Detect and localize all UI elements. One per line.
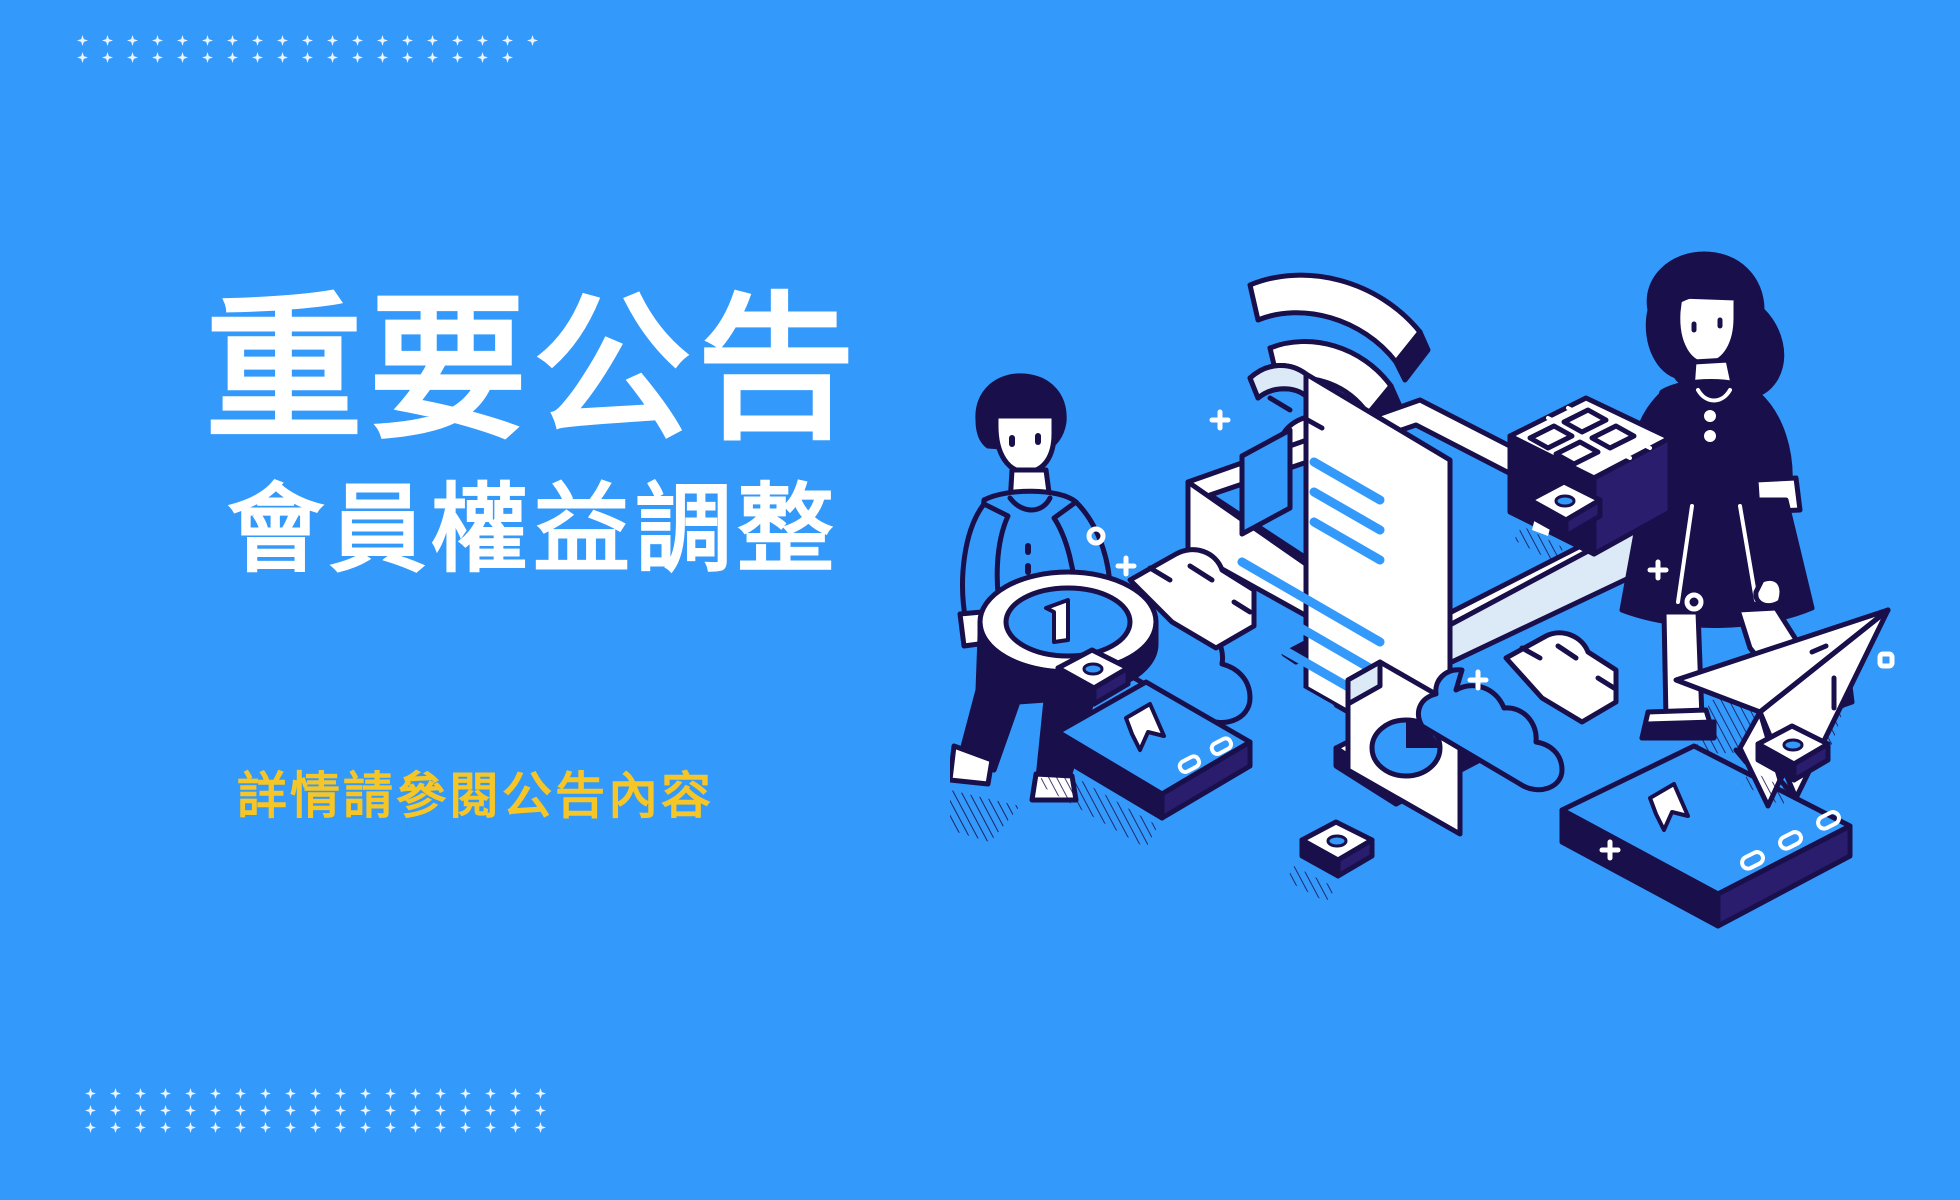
diamond-icon — [185, 1105, 196, 1116]
diamond-icon — [385, 1122, 396, 1133]
diamond-icon — [85, 1088, 96, 1099]
diamond-icon — [277, 35, 288, 46]
diamond-icon — [177, 35, 188, 46]
diamond-icon — [477, 35, 488, 46]
diamond-icon — [202, 52, 213, 63]
decor-pattern-row — [70, 32, 545, 49]
diamond-icon — [85, 1105, 96, 1116]
page-note: 詳情請參閱公告內容 — [237, 756, 1045, 828]
diamond-icon — [302, 35, 313, 46]
diamond-icon — [227, 35, 238, 46]
diamond-icon — [352, 52, 363, 63]
diamond-icon — [135, 1122, 146, 1133]
diamond-icon — [102, 52, 113, 63]
diamond-icon — [302, 52, 313, 63]
diamond-icon — [360, 1122, 371, 1133]
diamond-icon — [502, 35, 513, 46]
decor-pattern-row — [78, 1102, 553, 1119]
diamond-icon — [510, 1122, 521, 1133]
page-title: 重要公告 — [205, 290, 1045, 451]
diamond-icon — [327, 52, 338, 63]
announcement-slide: 重要公告 會員權益調整 詳情請參閱公告內容 — [0, 0, 1960, 1200]
diamond-icon — [235, 1122, 246, 1133]
diamond-icon — [252, 52, 263, 63]
diamond-icon — [527, 35, 538, 46]
diamond-icon — [260, 1105, 271, 1116]
diamond-icon — [435, 1122, 446, 1133]
diamond-icon — [102, 35, 113, 46]
diamond-icon — [435, 1105, 446, 1116]
diamond-icon — [352, 35, 363, 46]
diamond-icon — [335, 1105, 346, 1116]
diamond-icon — [252, 35, 263, 46]
diamond-icon — [235, 1088, 246, 1099]
diamond-icon — [285, 1088, 296, 1099]
diamond-icon — [427, 35, 438, 46]
diamond-icon — [210, 1122, 221, 1133]
diamond-icon — [135, 1088, 146, 1099]
diamond-icon — [160, 1122, 171, 1133]
diamond-icon — [402, 52, 413, 63]
diamond-icon — [485, 1105, 496, 1116]
diamond-icon — [310, 1122, 321, 1133]
diamond-icon — [435, 1088, 446, 1099]
diamond-icon — [377, 35, 388, 46]
decor-pattern-row — [78, 1119, 553, 1136]
diamond-icon — [210, 1105, 221, 1116]
decor-pattern-bottom — [78, 1085, 553, 1136]
diamond-icon — [477, 52, 488, 63]
decor-pattern-row — [70, 49, 545, 66]
diamond-icon — [385, 1105, 396, 1116]
diamond-icon — [460, 1105, 471, 1116]
text-block: 重要公告 會員權益調整 詳情請參閱公告內容 — [205, 290, 1045, 828]
diamond-icon — [152, 35, 163, 46]
diamond-icon — [177, 52, 188, 63]
diamond-icon — [185, 1088, 196, 1099]
diamond-icon — [77, 35, 88, 46]
diamond-icon — [385, 1088, 396, 1099]
diamond-icon — [285, 1105, 296, 1116]
diamond-icon — [535, 1105, 546, 1116]
diamond-icon — [160, 1088, 171, 1099]
diamond-icon — [360, 1105, 371, 1116]
diamond-icon — [135, 1105, 146, 1116]
diamond-icon — [402, 35, 413, 46]
diamond-icon — [452, 52, 463, 63]
diamond-icon — [235, 1105, 246, 1116]
diamond-icon — [227, 52, 238, 63]
diamond-icon — [427, 52, 438, 63]
diamond-icon — [277, 52, 288, 63]
diamond-icon — [360, 1088, 371, 1099]
diamond-icon — [377, 52, 388, 63]
diamond-icon — [152, 52, 163, 63]
diamond-icon — [185, 1122, 196, 1133]
diamond-icon — [502, 52, 513, 63]
diamond-icon — [285, 1122, 296, 1133]
diamond-icon — [535, 1088, 546, 1099]
diamond-icon — [410, 1088, 421, 1099]
decor-pattern-row — [78, 1085, 553, 1102]
diamond-icon — [260, 1122, 271, 1133]
diamond-icon — [335, 1122, 346, 1133]
diamond-icon — [485, 1122, 496, 1133]
diamond-icon — [160, 1105, 171, 1116]
diamond-icon — [127, 35, 138, 46]
diamond-icon — [410, 1122, 421, 1133]
diamond-icon — [335, 1088, 346, 1099]
diamond-icon — [535, 1122, 546, 1133]
diamond-icon — [210, 1088, 221, 1099]
diamond-icon — [310, 1088, 321, 1099]
isometric-illustration — [950, 250, 1950, 940]
diamond-icon — [77, 52, 88, 63]
diamond-icon — [202, 35, 213, 46]
diamond-icon — [110, 1122, 121, 1133]
diamond-icon — [127, 52, 138, 63]
diamond-icon — [460, 1088, 471, 1099]
diamond-icon — [310, 1105, 321, 1116]
diamond-icon — [510, 1088, 521, 1099]
decor-pattern-top — [70, 32, 545, 66]
diamond-icon — [260, 1088, 271, 1099]
page-subtitle: 會員權益調整 — [227, 473, 1045, 587]
diamond-icon — [452, 35, 463, 46]
diamond-icon — [110, 1088, 121, 1099]
diamond-icon — [85, 1122, 96, 1133]
diamond-icon — [410, 1105, 421, 1116]
diamond-icon — [110, 1105, 121, 1116]
diamond-icon — [460, 1122, 471, 1133]
diamond-icon — [510, 1105, 521, 1116]
diamond-icon — [485, 1088, 496, 1099]
diamond-icon — [327, 35, 338, 46]
